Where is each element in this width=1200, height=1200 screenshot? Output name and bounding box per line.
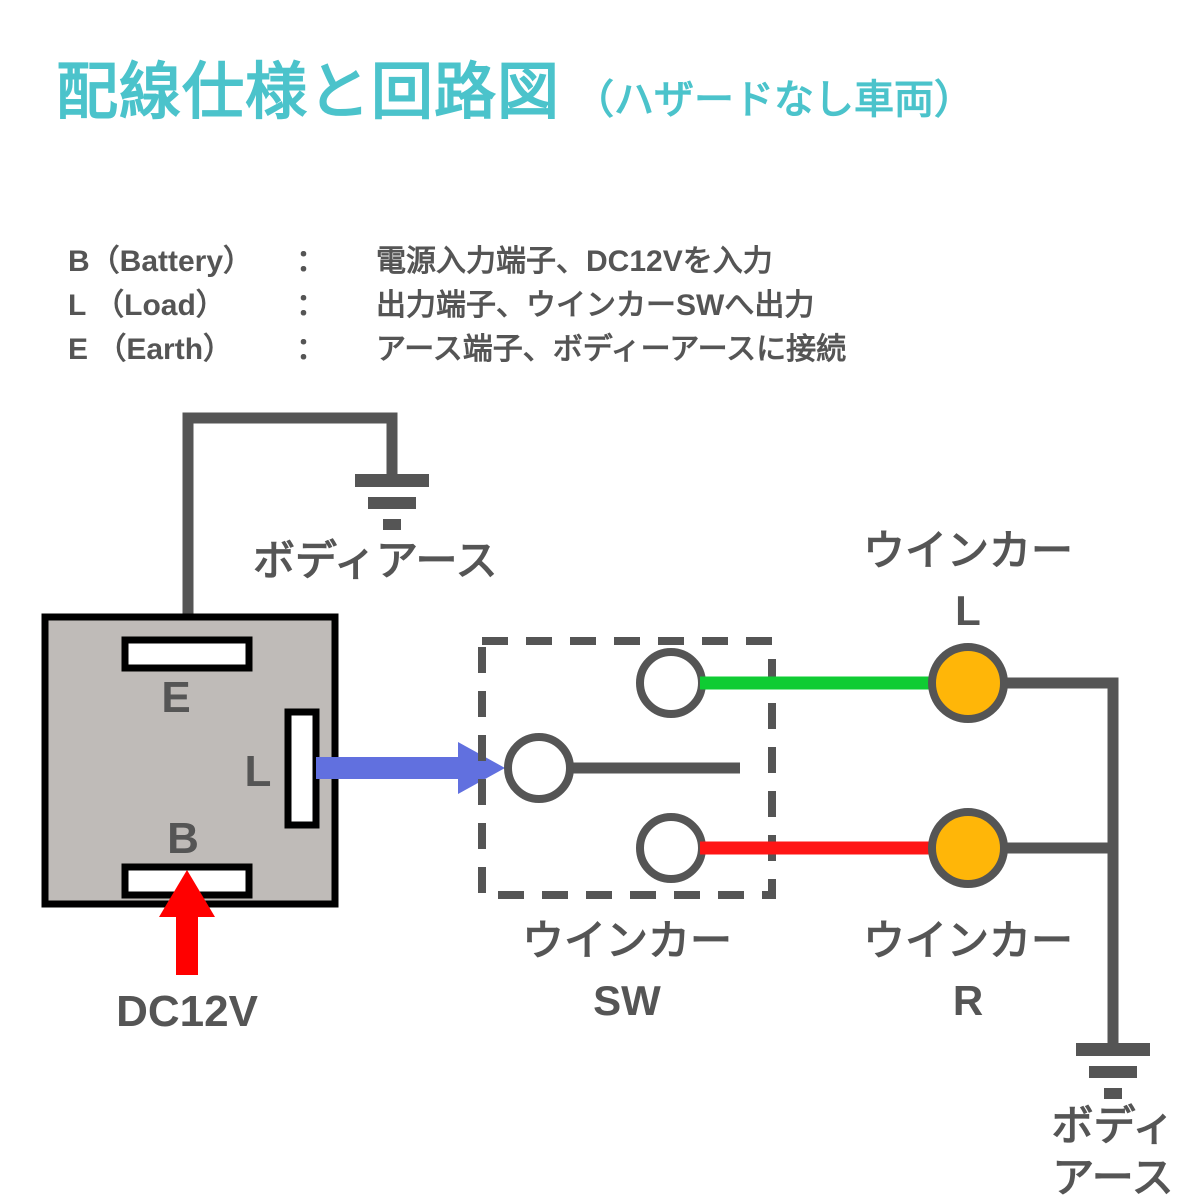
circuit-diagram: ボディアース E L B DC12V ウインカー: [0, 0, 1200, 1200]
relay-terminal-e-label: E: [161, 673, 190, 722]
relay-terminal-b-label: B: [167, 814, 199, 863]
switch-contact-right-turn[interactable]: [640, 817, 702, 879]
body-earth-bottom-label-line1: ボディ: [1051, 1102, 1174, 1149]
output-arrow-icon: [316, 742, 505, 794]
body-earth-top-label: ボディアース: [253, 537, 497, 584]
winker-sw-label-line2: SW: [593, 977, 661, 1024]
diagram-page: 配線仕様と回路図 （ハザードなし車両） B（Battery） ： 電源入力端子、…: [0, 0, 1200, 1200]
winker-lamp-left[interactable]: [932, 647, 1004, 719]
relay-terminal-l-label: L: [245, 747, 272, 796]
switch-contact-left-turn[interactable]: [640, 652, 702, 714]
relay-terminal-l: [288, 712, 316, 825]
winker-sw-label-line1: ウインカー: [522, 917, 732, 964]
winker-l-label-line1: ウインカー: [863, 527, 1073, 574]
body-earth-symbol-top: [355, 474, 429, 530]
winker-r-label-line1: ウインカー: [863, 917, 1073, 964]
winker-lamp-right[interactable]: [932, 812, 1004, 884]
body-earth-symbol-bottom: [1076, 1043, 1150, 1099]
dc12v-label: DC12V: [116, 987, 258, 1036]
winker-r-label-line2: R: [953, 977, 983, 1024]
relay-terminal-e: [125, 640, 249, 668]
switch-contact-common[interactable]: [508, 737, 570, 799]
lamp-return-bus: [996, 683, 1113, 1043]
body-earth-bottom-label-line2: アース: [1052, 1154, 1173, 1200]
winker-l-label-line2: L: [955, 587, 981, 634]
